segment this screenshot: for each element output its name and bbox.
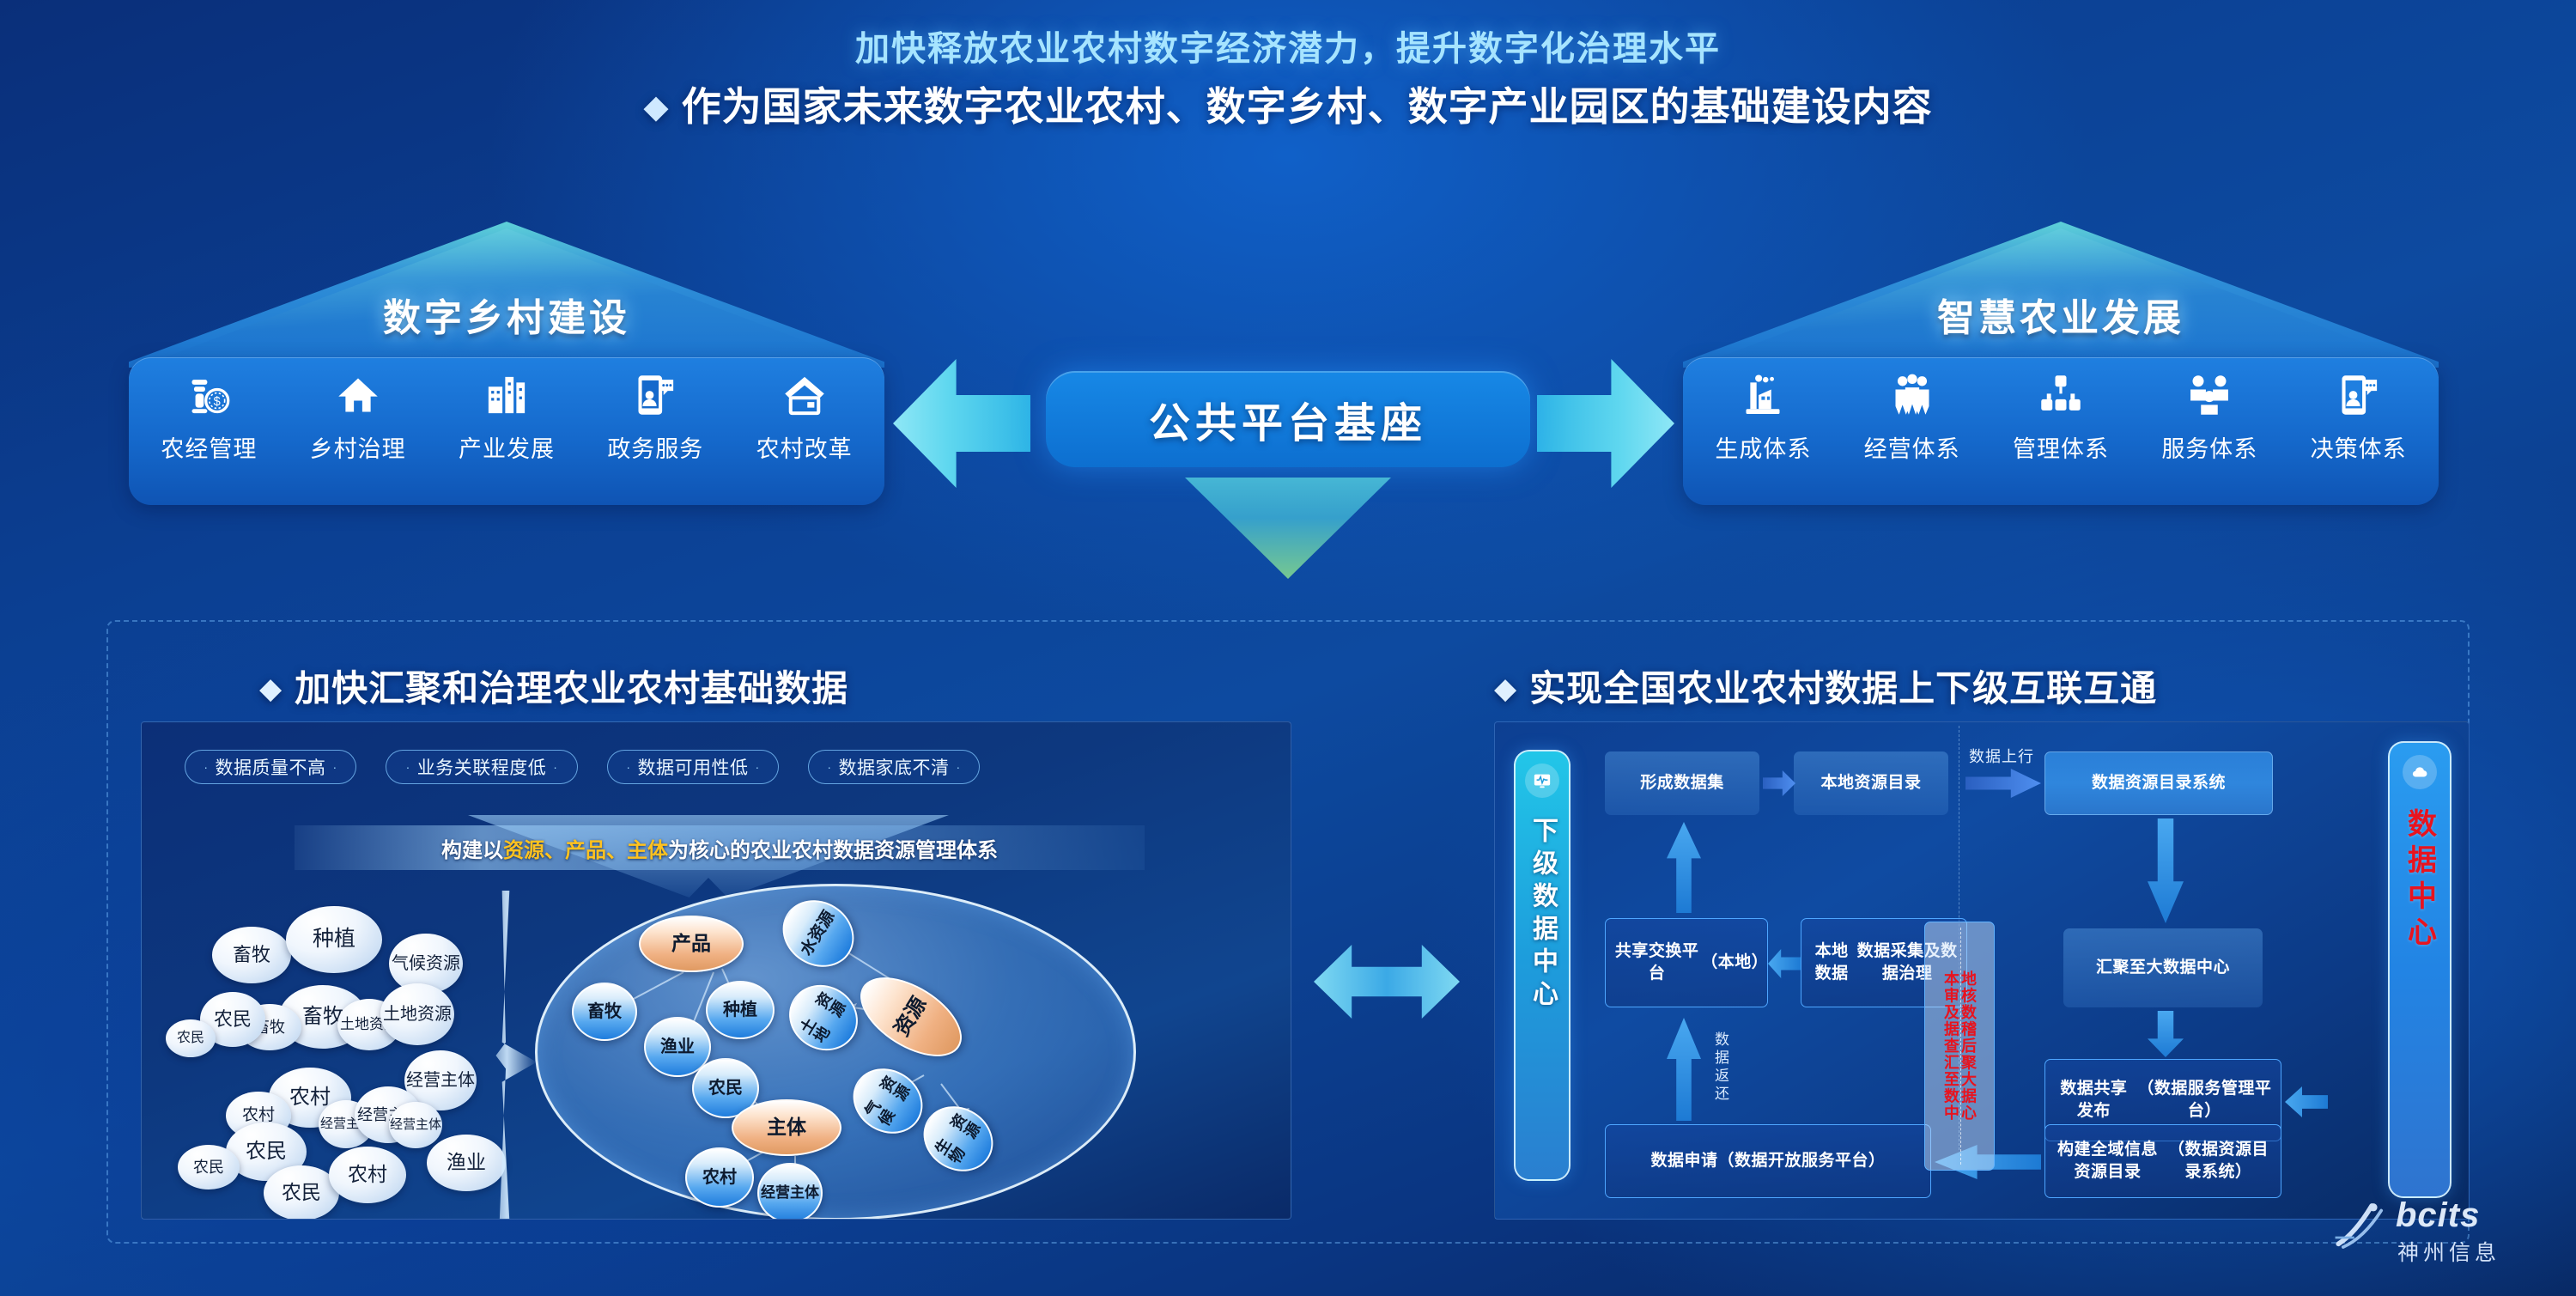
- item-label: 乡村治理: [310, 430, 406, 464]
- company-logo: bcits 神州信息: [2330, 1190, 2545, 1272]
- data-bubble: 农民: [178, 1145, 240, 1190]
- item-nongcun-gaige[interactable]: 农村改革: [736, 373, 873, 464]
- pillar-title-right: 智慧农业发展: [1683, 287, 2439, 342]
- data-center-bar[interactable]: 数据中心: [2388, 741, 2451, 1198]
- section-title-left-text: 加快汇聚和治理农业农村基础数据: [295, 668, 848, 709]
- data-governance-card: ·数据质量不高··业务关联程度低··数据可用性低··数据家底不清· 构建以资源、…: [141, 721, 1291, 1220]
- pill-label: 数据可用性低: [638, 754, 749, 780]
- logo-wordmark: bcits: [2396, 1196, 2480, 1235]
- factory-icon: [1741, 373, 1785, 422]
- page-subtitle: ◆作为国家未来数字农业农村、数字乡村、数字产业园区的基础建设内容: [0, 76, 2576, 132]
- item-jingying-tixi[interactable]: 经营体系: [1844, 373, 1981, 464]
- svg-text:$: $: [214, 395, 221, 409]
- model-node: 畜牧: [572, 983, 637, 1041]
- data-bubble: 渔业: [427, 1135, 506, 1191]
- org-chart-icon: [2038, 373, 2083, 422]
- buildings-icon: [484, 373, 529, 422]
- interconnect-flow-card: 下级数据中心 数据中心 形成数据集 本地资源目录 数据资源目录系统 共享交换平台…: [1494, 721, 2470, 1220]
- issue-pill: ·业务关联程度低·: [386, 750, 578, 784]
- service-people-icon: [2187, 373, 2232, 422]
- item-chanye-fazhan[interactable]: 产业发展: [438, 373, 575, 464]
- pill-dot-icon: ·: [957, 760, 961, 774]
- subordinate-data-center-label: 下级数据中心: [1523, 817, 1561, 1013]
- pill-dot-icon: ·: [756, 760, 760, 774]
- item-guanli-tixi[interactable]: 管理体系: [1992, 373, 2129, 464]
- governance-banner: 构建以资源、产品、主体为核心的农业农村数据资源管理体系: [295, 825, 1145, 870]
- item-fuwu-tixi[interactable]: 服务体系: [2141, 373, 2278, 464]
- pill-label: 业务关联程度低: [417, 754, 547, 780]
- arrow-dataset-to-catalog: [1763, 770, 1795, 796]
- data-bubble: 经营主体: [389, 1102, 442, 1148]
- pill-dot-icon: ·: [827, 760, 831, 774]
- item-label: 农经管理: [161, 430, 257, 464]
- section-title-right-text: 实现全国农业农村数据上下级互联互通: [1529, 668, 2157, 709]
- bcits-mark-icon: [2330, 1195, 2394, 1258]
- monitor-pulse-icon: [1525, 764, 1559, 798]
- mobile-service-icon: [633, 373, 677, 422]
- arrow-to-left-pillar: [893, 359, 1030, 488]
- pillar-digital-village: 数字乡村建设 $ 农经管理 乡村治理 产业发展 政务服务 农村改革: [129, 222, 884, 505]
- item-juece-tixi[interactable]: 决策体系: [2290, 373, 2427, 464]
- arrow-upload-to-system: [1965, 769, 2041, 798]
- item-label: 服务体系: [2161, 430, 2257, 464]
- issue-pill: ·数据可用性低·: [607, 750, 779, 784]
- money-coin-icon: $: [186, 373, 231, 422]
- pill-dot-icon: ·: [406, 760, 410, 774]
- item-shengcheng-tixi[interactable]: 生成体系: [1694, 373, 1832, 464]
- data-bubble: 农民: [264, 1165, 339, 1220]
- section-title-left: ◆加快汇聚和治理农业农村基础数据: [259, 660, 848, 712]
- pill-dot-icon: ·: [553, 760, 557, 774]
- model-node: 农村: [685, 1147, 754, 1208]
- item-label: 经营体系: [1864, 430, 1960, 464]
- arrow-dc-to-publish: [2285, 1086, 2328, 1117]
- note-separator: [1960, 928, 1961, 1165]
- audit-note-col-left: 本审及据查汇至数中: [1943, 970, 1959, 1122]
- data-bubble: 农民: [166, 1019, 216, 1057]
- item-label: 决策体系: [2311, 430, 2407, 464]
- box-share-platform[interactable]: 共享交换平台（本地）: [1605, 918, 1768, 1007]
- mobile-decision-icon: [2336, 373, 2381, 422]
- data-bubble: 农村: [329, 1147, 406, 1203]
- box-catalog-system[interactable]: 数据资源目录系统: [2044, 751, 2273, 815]
- data-bubble: 土地资源: [380, 983, 454, 1045]
- item-label: 管理体系: [2013, 430, 2109, 464]
- label-data-return: 数据返还: [1710, 1031, 1731, 1104]
- pill-dot-icon: ·: [204, 760, 208, 774]
- data-bubble: 种植: [286, 906, 382, 973]
- item-label: 政务服务: [607, 430, 703, 464]
- audit-note-col-right: 地核数稽后聚大据心: [1960, 970, 1976, 1122]
- box-form-dataset[interactable]: 形成数据集: [1605, 751, 1759, 815]
- banner-suffix: 为核心的农业农村数据资源管理体系: [668, 833, 998, 863]
- issue-pill: ·数据家底不清·: [808, 750, 980, 784]
- model-node: 种植: [706, 981, 775, 1039]
- logo-cn-name: 神州信息: [2397, 1236, 2500, 1267]
- platform-base-badge[interactable]: 公共平台基座: [1046, 371, 1530, 467]
- pillar-items-left: $ 农经管理 乡村治理 产业发展 政务服务 农村改革: [129, 373, 884, 464]
- item-zhengwu-fuwu[interactable]: 政务服务: [586, 373, 724, 464]
- pill-dot-icon: ·: [333, 760, 337, 774]
- label-data-upload: 数据上行: [1969, 745, 2034, 767]
- arrow-aggregate-to-publish: [2148, 1011, 2184, 1057]
- issue-pill: ·数据质量不高·: [185, 750, 356, 784]
- village-house-icon: [782, 373, 827, 422]
- audit-note-box: 本审及据查汇至数中 地核数稽后聚大据心: [1924, 922, 1995, 1171]
- page-title: 加快释放农业农村数字经济潜力，提升数字化治理水平: [0, 21, 2576, 70]
- arrow-apply-to-platform: [1667, 1018, 1701, 1121]
- pill-label: 数据质量不高: [216, 754, 326, 780]
- cloud-icon: [2403, 755, 2437, 789]
- box-local-catalog[interactable]: 本地资源目录: [1794, 751, 1948, 815]
- pill-dot-icon: ·: [626, 760, 630, 774]
- subordinate-data-center-bar[interactable]: 下级数据中心: [1514, 750, 1571, 1181]
- arrow-system-to-aggregate: [2148, 818, 2184, 923]
- governed-data-model-ellipse: 产品水资源资源畜牧种植土地资源渔业农民气候资源生物资源主体农村经营主体: [535, 884, 1136, 1220]
- people-group-icon: [1890, 373, 1935, 422]
- item-xiangcun-zhili[interactable]: 乡村治理: [289, 373, 427, 464]
- box-aggregate-bdc[interactable]: 汇聚至大数据中心: [2063, 928, 2263, 1007]
- bullet-diamond-icon: ◆: [259, 672, 283, 705]
- arrow-platform-to-dataset: [1667, 822, 1701, 913]
- infographic-canvas: 加快释放农业农村数字经济潜力，提升数字化治理水平 ◆作为国家未来数字农业农村、数…: [0, 0, 2576, 1296]
- item-label: 农村改革: [756, 430, 853, 464]
- data-center-label: 数据中心: [2399, 808, 2441, 952]
- pillar-title-left: 数字乡村建设: [129, 287, 884, 342]
- item-nongjing-guanli[interactable]: $ 农经管理: [140, 373, 277, 464]
- banner-highlight: 资源、产品、主体: [503, 833, 668, 863]
- house-icon: [336, 373, 380, 422]
- bidirectional-arrow: [1314, 945, 1460, 1019]
- model-node: 产品: [639, 916, 744, 972]
- box-data-apply[interactable]: 数据申请（数据开放服务平台）: [1605, 1124, 1931, 1198]
- bullet-diamond-icon: ◆: [643, 89, 669, 125]
- item-label: 产业发展: [459, 430, 555, 464]
- data-bubble: 畜牧: [212, 927, 291, 983]
- item-label: 生成体系: [1715, 430, 1811, 464]
- bullet-diamond-icon: ◆: [1494, 672, 1517, 705]
- box-global-catalog[interactable]: 构建全域信息资源目录（数据资源目录系统）: [2044, 1124, 2281, 1198]
- platform-base-label: 公共平台基座: [1149, 389, 1427, 449]
- section-title-right: ◆实现全国农业农村数据上下级互联互通: [1494, 660, 2157, 712]
- banner-prefix: 构建以: [441, 833, 503, 863]
- pill-label: 数据家底不清: [839, 754, 950, 780]
- page-subtitle-text: 作为国家未来数字农业农村、数字乡村、数字产业园区的基础建设内容: [682, 84, 1933, 129]
- pillar-items-right: 生成体系 经营体系 管理体系 服务体系 决策体系: [1683, 373, 2439, 464]
- model-node: 主体: [732, 1099, 841, 1156]
- arrow-down-to-sections: [1185, 478, 1391, 579]
- model-node: 经营主体: [757, 1163, 823, 1220]
- arrow-localdata-to-platform: [1768, 949, 1801, 978]
- pillar-smart-agriculture: 智慧农业发展 生成体系 经营体系 管理体系 服务体系 决策体系: [1683, 222, 2439, 505]
- arrow-to-right-pillar: [1537, 359, 1674, 488]
